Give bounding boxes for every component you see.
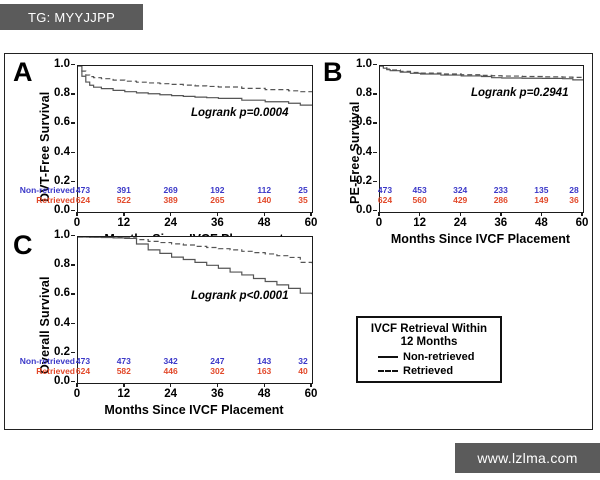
risk-count: 265 (203, 195, 231, 205)
legend-title: IVCF Retrieval Within 12 Months (364, 323, 494, 349)
site-watermark-text: www.lzlma.com (477, 450, 577, 466)
x-tick-label: 12 (111, 388, 137, 400)
risk-row-label-non-retrieved: Non-retrieved (3, 356, 75, 366)
legend-title-line2: 12 Months (364, 336, 494, 349)
legend-title-line1: IVCF Retrieval Within (364, 323, 494, 336)
site-watermark-badge: www.lzlma.com (455, 443, 600, 473)
y-tick-label: 0.8 (36, 258, 70, 270)
legend-item-non-retrieved: Non-retrieved (364, 351, 494, 363)
risk-count: 473 (69, 356, 97, 366)
y-tick-label: 0.4 (338, 146, 372, 158)
risk-count: 473 (110, 356, 138, 366)
risk-count: 40 (289, 366, 317, 376)
risk-count: 36 (560, 195, 588, 205)
risk-row-label-non-retrieved: Non-retrieved (3, 185, 75, 195)
risk-count: 560 (406, 195, 434, 205)
risk-count: 429 (446, 195, 474, 205)
y-tick-label: 0.4 (36, 317, 70, 329)
y-tick-label: 0.8 (36, 87, 70, 99)
risk-count: 163 (250, 366, 278, 376)
x-tick-label: 12 (407, 217, 433, 229)
y-tick-label: 0.0 (36, 375, 70, 387)
x-tick-label: 48 (251, 388, 277, 400)
y-tick-label: 1.0 (338, 58, 372, 70)
x-tick-label: 12 (111, 217, 137, 229)
risk-count: 624 (371, 195, 399, 205)
y-tick-label: 0.6 (36, 287, 70, 299)
risk-count: 453 (406, 185, 434, 195)
risk-count: 35 (289, 195, 317, 205)
curve-non-retrieved (78, 237, 312, 294)
y-tick-label: 0.4 (36, 146, 70, 158)
figure-frame: A DVT-Free Survival Logrank p=0.0004 1.0… (4, 53, 593, 430)
risk-count: 143 (250, 356, 278, 366)
x-tick-label: 48 (251, 217, 277, 229)
risk-count: 192 (203, 185, 231, 195)
risk-row-label-retrieved: Retrieved (3, 195, 75, 205)
y-tick-label: 0.6 (36, 116, 70, 128)
legend-item-retrieved-label: Retrieved (403, 365, 453, 377)
risk-count: 32 (289, 356, 317, 366)
x-axis-label: Months Since IVCF Placement (379, 232, 582, 246)
panel-b-logrank-annotation: Logrank p=0.2941 (471, 87, 568, 99)
x-tick-label: 24 (158, 217, 184, 229)
x-tick-label: 0 (366, 217, 392, 229)
x-tick-label: 24 (158, 388, 184, 400)
risk-row-label-retrieved: Retrieved (3, 366, 75, 376)
x-tick-label: 36 (204, 388, 230, 400)
risk-count: 233 (487, 185, 515, 195)
risk-count: 582 (110, 366, 138, 376)
risk-count: 624 (69, 195, 97, 205)
risk-count: 135 (527, 185, 555, 195)
x-tick-label: 36 (488, 217, 514, 229)
y-tick-label: 1.0 (36, 229, 70, 241)
risk-count: 25 (289, 185, 317, 195)
risk-count: 391 (110, 185, 138, 195)
panel-c-logrank-annotation: Logrank p<0.0001 (191, 290, 288, 302)
risk-count: 324 (446, 185, 474, 195)
x-tick-label: 60 (298, 388, 324, 400)
x-axis-label: Months Since IVCF Placement (77, 403, 311, 417)
y-tick-label: 0.0 (338, 204, 372, 216)
legend-box: IVCF Retrieval Within 12 Months Non-retr… (356, 316, 502, 383)
x-tick-label: 36 (204, 217, 230, 229)
y-tick-label: 0.8 (338, 87, 372, 99)
panel-a-logrank-annotation: Logrank p=0.0004 (191, 107, 288, 119)
x-tick-label: 0 (64, 217, 90, 229)
risk-count: 28 (560, 185, 588, 195)
y-tick-label: 0.2 (338, 175, 372, 187)
legend-item-non-retrieved-label: Non-retrieved (403, 351, 475, 363)
risk-count: 269 (157, 185, 185, 195)
panel-c-letter: C (13, 232, 33, 259)
risk-count: 112 (250, 185, 278, 195)
x-tick-label: 24 (447, 217, 473, 229)
x-tick-label: 48 (528, 217, 554, 229)
risk-count: 140 (250, 195, 278, 205)
legend-item-retrieved: Retrieved (364, 365, 494, 377)
x-tick-label: 60 (569, 217, 595, 229)
risk-count: 149 (527, 195, 555, 205)
risk-count: 247 (203, 356, 231, 366)
y-tick-label: 1.0 (36, 58, 70, 70)
y-tick-label: 0.6 (338, 116, 372, 128)
risk-count: 286 (487, 195, 515, 205)
y-tick-label: 0.0 (36, 204, 70, 216)
risk-count: 473 (69, 185, 97, 195)
tag-watermark-badge: TG: MYYJJPP (0, 4, 143, 30)
risk-count: 522 (110, 195, 138, 205)
legend-dashed-line-icon (378, 366, 398, 376)
risk-count: 302 (203, 366, 231, 376)
risk-count: 389 (157, 195, 185, 205)
tag-watermark-text: TG: MYYJJPP (28, 10, 115, 25)
x-tick-label: 0 (64, 388, 90, 400)
risk-count: 473 (371, 185, 399, 195)
risk-count: 446 (157, 366, 185, 376)
curve-non-retrieved (380, 66, 583, 80)
legend-solid-line-icon (378, 352, 398, 362)
panel-a-letter: A (13, 59, 33, 86)
risk-count: 342 (157, 356, 185, 366)
x-tick-label: 60 (298, 217, 324, 229)
risk-count: 624 (69, 366, 97, 376)
